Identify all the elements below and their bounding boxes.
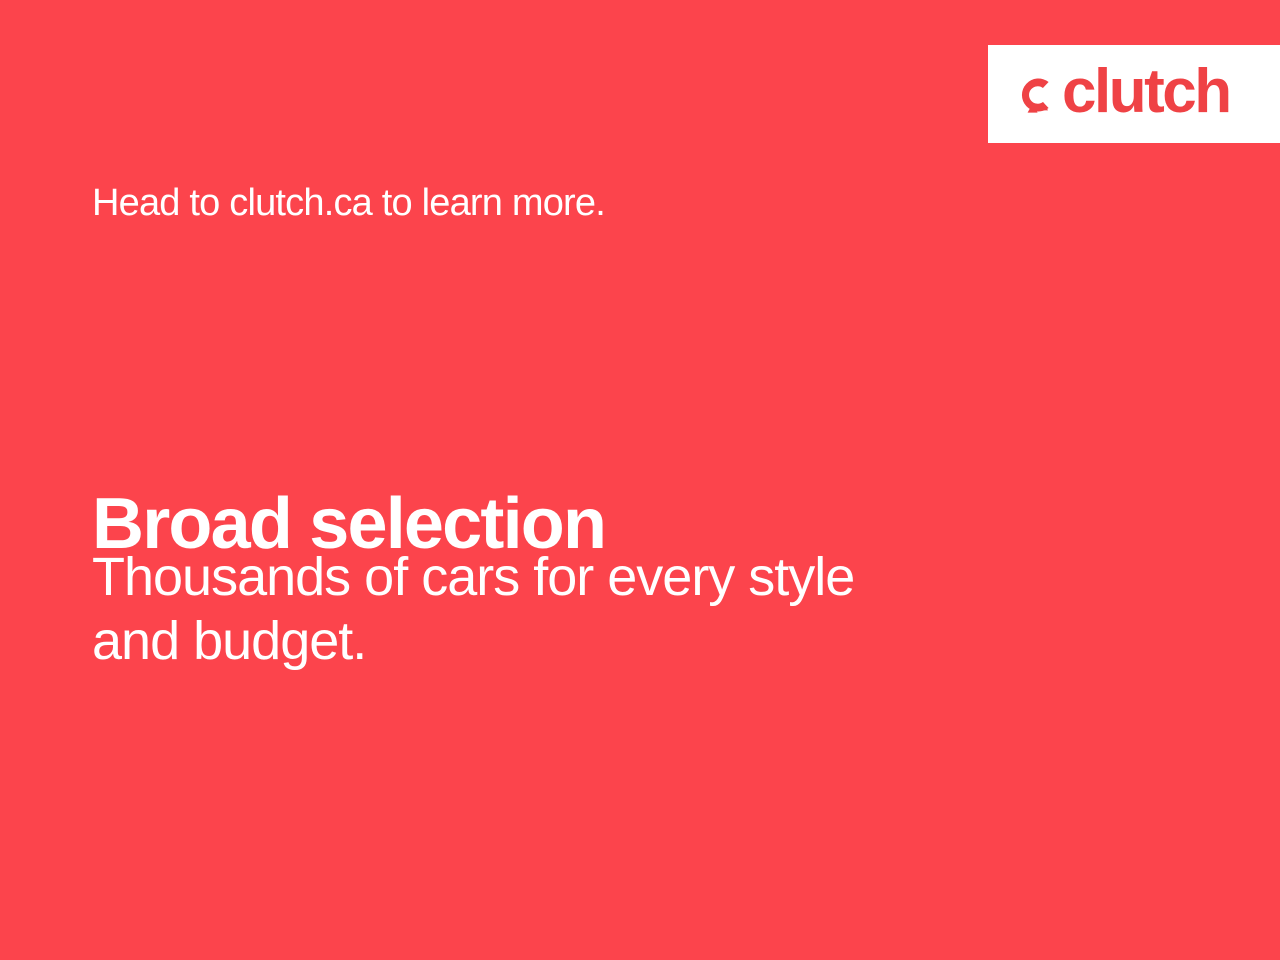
subhead-line-1: Thousands of cars for every style: [92, 546, 1042, 610]
tagline-text: Head to clutch.ca to learn more.: [92, 182, 605, 226]
slide-canvas: clutch Head to clutch.ca to learn more. …: [0, 0, 1280, 960]
subhead-line-2: and budget.: [92, 610, 1042, 674]
clutch-wordmark: clutch: [1062, 61, 1230, 123]
clutch-logo-plate[interactable]: clutch: [988, 45, 1280, 143]
clutch-c-mark-icon: [1014, 72, 1060, 118]
clutch-logo-lockup[interactable]: clutch: [1014, 63, 1230, 125]
subhead-text: Thousands of cars for every style and bu…: [92, 546, 1042, 673]
